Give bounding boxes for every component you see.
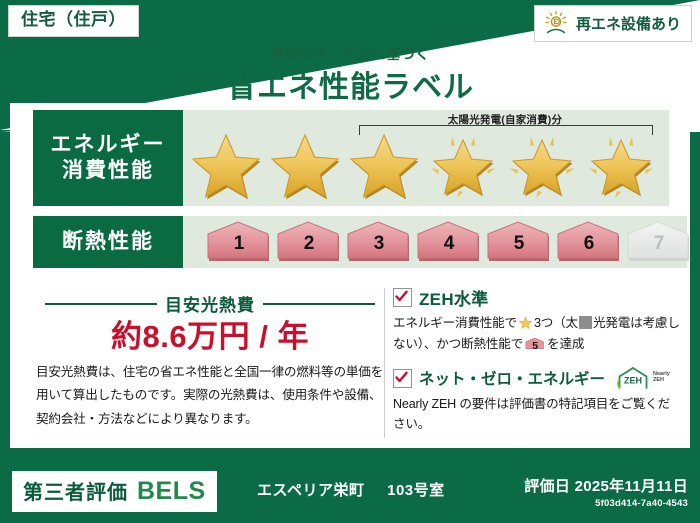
- zeh-standard-heading: ZEH水準: [393, 285, 681, 310]
- net-zero-energy-title: ネット・ゼロ・エネルギー: [419, 367, 605, 389]
- checkbox-checked-icon: [393, 288, 412, 307]
- star-rating: [187, 128, 660, 202]
- category-badge: 住宅（住戸）: [8, 5, 139, 37]
- star-solar-icon: [503, 128, 581, 202]
- insulation-level-number: 1: [205, 233, 273, 255]
- star-icon-inline: [518, 315, 533, 330]
- svg-text:ZEH: ZEH: [624, 375, 642, 385]
- star-solar-icon: [582, 128, 660, 202]
- zeh-column: ZEH水準 エネルギー消費性能で3つ（太光発電は考慮しない）、かつ断熱性能で5を…: [393, 285, 681, 446]
- energy-key-line1: エネルギー: [51, 132, 166, 158]
- insulation-level-number: 6: [555, 233, 623, 255]
- insulation-level-house: 6: [555, 220, 623, 264]
- bels-logo-en: BELS: [137, 477, 206, 506]
- evaluation-date-line: 評価日 2025年11月11日: [524, 475, 688, 496]
- insulation-level-badge-number: 5: [525, 338, 545, 355]
- column-divider: [384, 288, 385, 438]
- heading-rule-right: [263, 303, 375, 305]
- renewable-equipment-badge: 再エネ設備あり: [534, 5, 692, 42]
- room-number: 103号室: [387, 482, 445, 499]
- insulation-performance-row: 断熱性能: [33, 216, 687, 268]
- utility-cost-description: 目安光熱費は、住宅の省エネ性能と全国一律の燃料等の単価を用いて算出したものです。…: [36, 361, 384, 431]
- energy-performance-key: エネルギー 消費性能: [33, 110, 183, 206]
- insulation-performance-key: 断熱性能: [33, 216, 183, 268]
- sun-icon: [543, 10, 569, 36]
- zeh-caption-line2: ZEH: [653, 377, 664, 383]
- insulation-level-number: 7: [625, 233, 693, 255]
- star-solar-icon: [424, 128, 502, 202]
- star-icon: [187, 128, 265, 202]
- renewable-badge-label: 再エネ設備あり: [576, 13, 681, 34]
- checkbox-checked-icon: [393, 369, 412, 388]
- evaluation-date-label: 評価日: [524, 478, 570, 495]
- insulation-level-scale: 1 2 3: [205, 220, 693, 264]
- insulation-level-house: 5: [485, 220, 553, 264]
- insulation-level-number: 5: [485, 233, 553, 255]
- insulation-key-label: 断熱性能: [62, 229, 154, 255]
- energy-performance-row: エネルギー 消費性能 太陽光発電(自家消費)分: [33, 110, 669, 206]
- building-name: エスペリア栄町: [257, 482, 364, 499]
- star-icon: [345, 128, 423, 202]
- insulation-level-number: 4: [415, 233, 483, 255]
- masked-character: [579, 316, 592, 329]
- insulation-level-number: 3: [345, 233, 413, 255]
- page-title: 省エネ性能ラベル: [0, 62, 700, 106]
- bels-logo: 第三者評価 BELS: [12, 471, 217, 512]
- category-badge-label: 住宅（住戸）: [21, 10, 126, 29]
- energy-key-line2: 消費性能: [62, 158, 154, 184]
- zeh-standard-text-1: エネルギー消費性能で: [393, 316, 517, 330]
- footer-bar: 第三者評価 BELS エスペリア栄町 103号室 評価日 2025年11月11日…: [0, 463, 700, 523]
- utility-cost-amount: 約8.6万円 / 年: [45, 311, 375, 356]
- zeh-logo: ZEH Nearly ZEH: [616, 366, 670, 391]
- star-icon: [266, 128, 344, 202]
- zeh-logo-caption: Nearly ZEH: [653, 372, 670, 384]
- zeh-standard-title: ZEH水準: [419, 285, 489, 310]
- zeh-standard-text: エネルギー消費性能で3つ（太光発電は考慮しない）、かつ断熱性能で5を達成: [393, 313, 681, 355]
- evaluation-id: 5f03d414-7a40-4543: [524, 498, 688, 509]
- evaluation-date-value: 2025年11月11日: [575, 478, 688, 495]
- zeh-standard-text-4: を達成: [547, 337, 584, 351]
- heading-rule-left: [45, 303, 157, 305]
- energy-performance-value: 太陽光発電(自家消費)分: [183, 110, 669, 206]
- net-zero-energy-text: Nearly ZEH の要件は評価書の特記項目をご覧ください。: [393, 394, 681, 436]
- building-info: エスペリア栄町 103号室: [257, 479, 445, 500]
- insulation-level-house: 1: [205, 220, 273, 264]
- bels-logo-jp: 第三者評価: [23, 476, 128, 505]
- insulation-performance-value: 1 2 3: [183, 216, 687, 268]
- insulation-level-house: 3: [345, 220, 413, 264]
- insulation-level-house-inactive: 7: [625, 220, 693, 264]
- main-card: エネルギー 消費性能 太陽光発電(自家消費)分: [10, 103, 690, 448]
- net-zero-energy-heading: ネット・ゼロ・エネルギー ZEH Nearly ZEH: [393, 366, 681, 391]
- insulation-level-number: 2: [275, 233, 343, 255]
- zeh-standard-text-2: 3つ（太: [534, 316, 578, 330]
- insulation-level-house: 4: [415, 220, 483, 264]
- insulation-level-house: 2: [275, 220, 343, 264]
- evaluation-info: 評価日 2025年11月11日 5f03d414-7a40-4543: [524, 475, 688, 509]
- insulation-level-badge-inline: 5: [525, 336, 545, 352]
- label-subtitle: 建築物省エネ法に基づく: [0, 44, 700, 64]
- energy-performance-label: 住宅（住戸） 再エネ設備あり 建築物省エネ法に基づく 省エ: [0, 0, 700, 523]
